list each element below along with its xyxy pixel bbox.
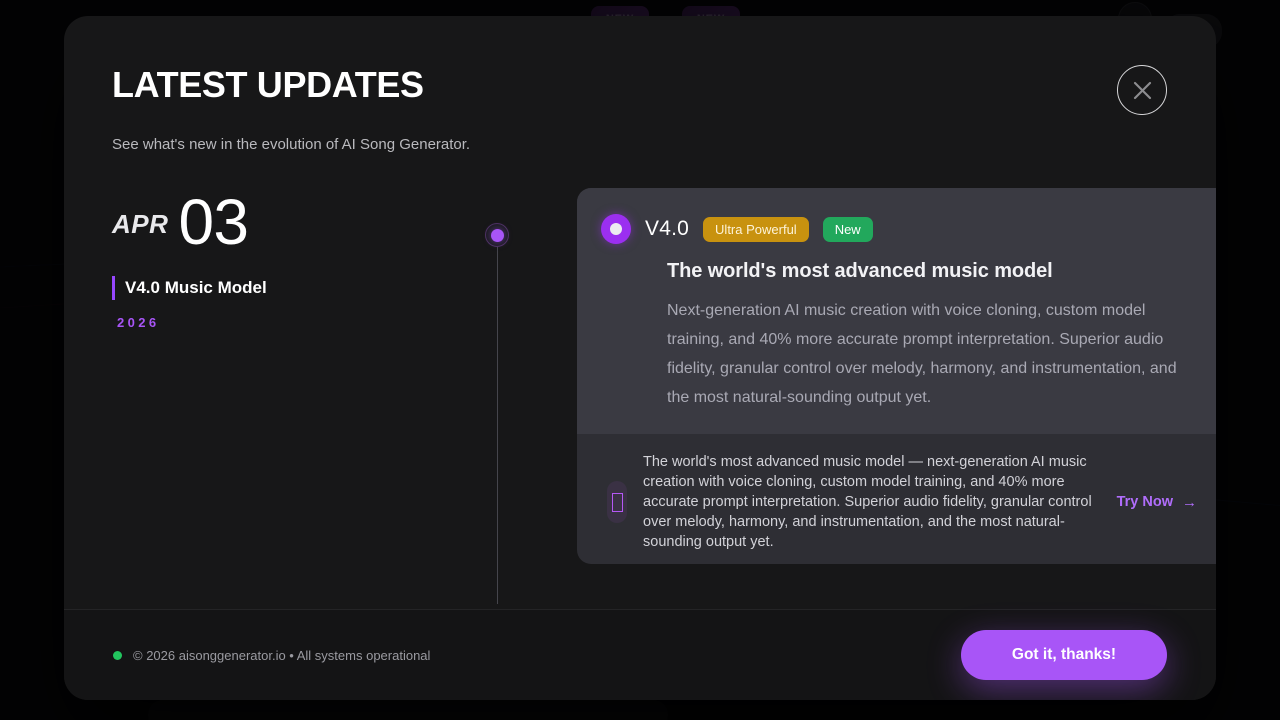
got-it-button[interactable]: Got it, thanks! <box>961 630 1167 680</box>
try-now-label: Try Now <box>1117 494 1173 510</box>
version-dot-inner <box>610 223 622 235</box>
release-version: V4.0 <box>645 217 689 241</box>
timeline-month: APR <box>112 209 168 254</box>
latest-updates-modal: LATEST UPDATES See what's new in the evo… <box>64 16 1216 700</box>
page-title: LATEST UPDATES <box>112 64 424 106</box>
modal-body: LATEST UPDATES See what's new in the evo… <box>64 16 1216 609</box>
version-dot-icon <box>601 214 631 244</box>
timeline-date: APR 03 <box>112 176 482 254</box>
release-version-row: V4.0 Ultra Powerful New <box>601 214 1207 244</box>
timeline-year: 2026 <box>117 315 482 330</box>
arrow-right-icon: → <box>1182 495 1197 510</box>
footer-status-text: © 2026 aisonggenerator.io • All systems … <box>133 648 430 663</box>
release-card-header: V4.0 Ultra Powerful New The world's most… <box>577 188 1216 434</box>
try-now-link[interactable]: Try Now → <box>1117 494 1207 510</box>
missing-glyph-box-icon <box>607 481 627 523</box>
badge-new: New <box>823 217 873 242</box>
release-heading: The world's most advanced music model <box>601 260 1207 283</box>
release-note: The world's most advanced music model — … <box>643 452 1101 552</box>
close-icon <box>1133 81 1152 100</box>
release-note-row: The world's most advanced music model — … <box>577 434 1216 564</box>
close-button[interactable] <box>1117 65 1167 115</box>
modal-footer: © 2026 aisonggenerator.io • All systems … <box>64 609 1216 700</box>
release-description: Next-generation AI music creation with v… <box>601 296 1207 412</box>
status-indicator-icon <box>113 651 122 660</box>
timeline-entry: APR 03 V4.0 Music Model 2026 <box>112 176 482 330</box>
missing-glyph-box-inner <box>612 493 623 512</box>
timeline-day: 03 <box>178 190 248 254</box>
timeline-marker-inner <box>491 229 504 242</box>
badge-ultra-powerful: Ultra Powerful <box>703 217 809 242</box>
release-card: V4.0 Ultra Powerful New The world's most… <box>577 188 1216 564</box>
timeline-entry-name-wrap: V4.0 Music Model <box>112 276 482 300</box>
timeline-rail <box>497 244 498 604</box>
timeline-marker-dot[interactable] <box>485 223 509 247</box>
page-subtitle: See what's new in the evolution of AI So… <box>112 136 470 153</box>
timeline-entry-name: V4.0 Music Model <box>125 278 267 298</box>
footer-status: © 2026 aisonggenerator.io • All systems … <box>113 648 430 663</box>
